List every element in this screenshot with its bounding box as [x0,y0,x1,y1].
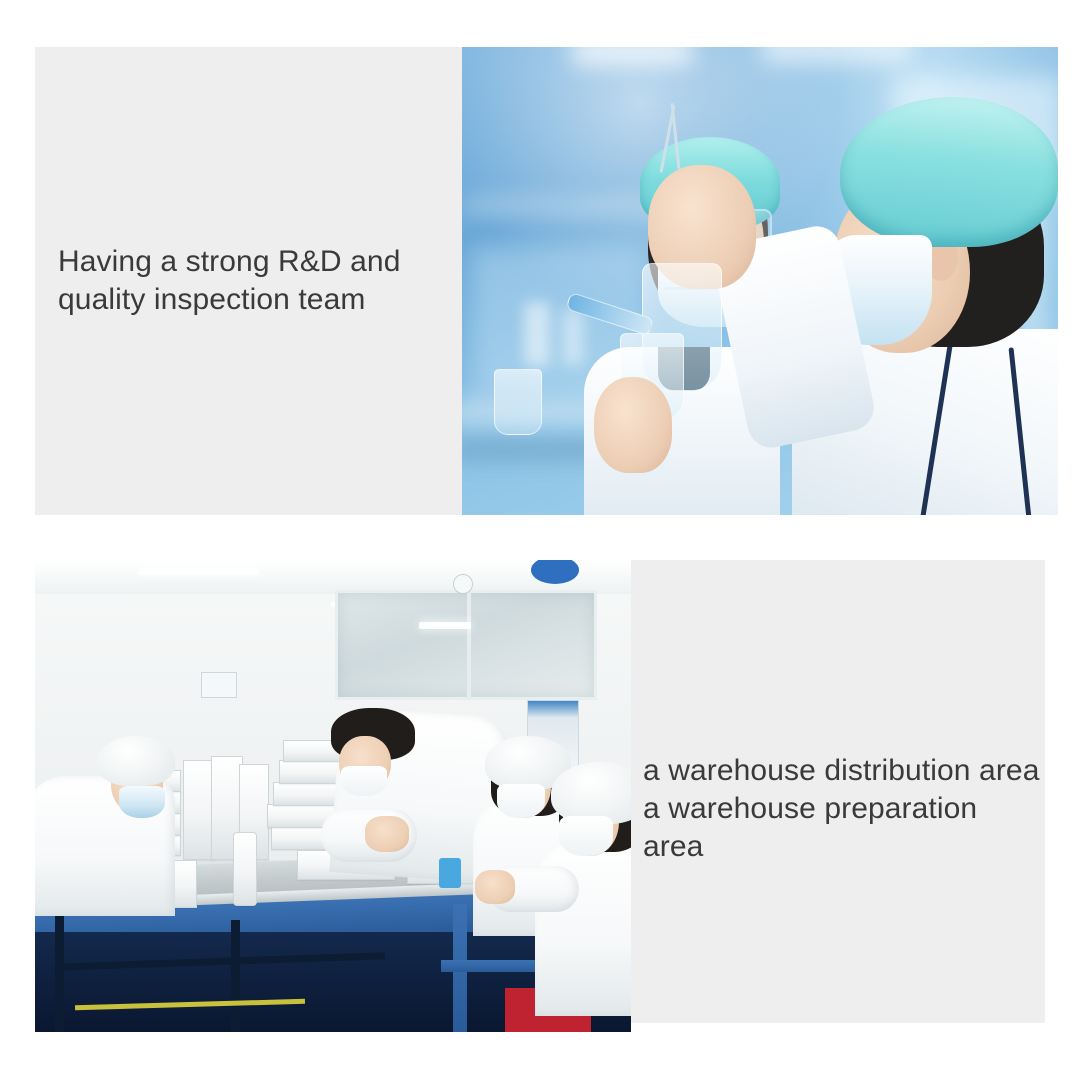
table-leg-mid [231,920,240,1032]
lab-background-bottle-mid [562,309,584,365]
lab-ceiling-light [572,47,692,65]
lab-background-bottle-left [524,302,550,366]
warehouse-packing-photo [35,560,631,1032]
wall-clock-icon [453,574,473,594]
worker-4-hairnet [551,762,631,824]
worker-4-face-mask [559,816,613,856]
table-leg-left [55,916,64,1032]
worker-4-hand [475,870,515,904]
cleanroom-observation-window [335,590,597,700]
wall-notice-small [201,672,237,698]
warehouse-caption: a warehouse distribution area a warehous… [643,752,1043,866]
window-mullion [467,590,471,700]
window-interior-lamp [419,622,471,629]
worker-1-hairnet [97,736,175,786]
warehouse-scene [35,560,631,1032]
blue-cart-frame-horizontal [441,960,535,972]
worker-4-coat [535,836,631,1016]
worker-1-face-mask [119,786,165,818]
rd-quality-caption: Having a strong R&D and quality inspecti… [58,243,458,319]
lab-ceiling-light-far [762,47,912,63]
lab-inspection-photo [462,47,1058,515]
small-vial [494,369,542,435]
technician-right-hairnet [840,97,1058,247]
worker-3-face-mask [497,784,545,818]
ceiling-lamp-left [139,568,259,575]
lab-scene [462,47,1058,515]
worker-2-hand [365,816,409,852]
blue-glove-tool [439,858,461,888]
technician-left-hand [594,377,672,473]
carton-bottle-white [233,832,257,906]
worker-2-face-mask [341,766,387,796]
